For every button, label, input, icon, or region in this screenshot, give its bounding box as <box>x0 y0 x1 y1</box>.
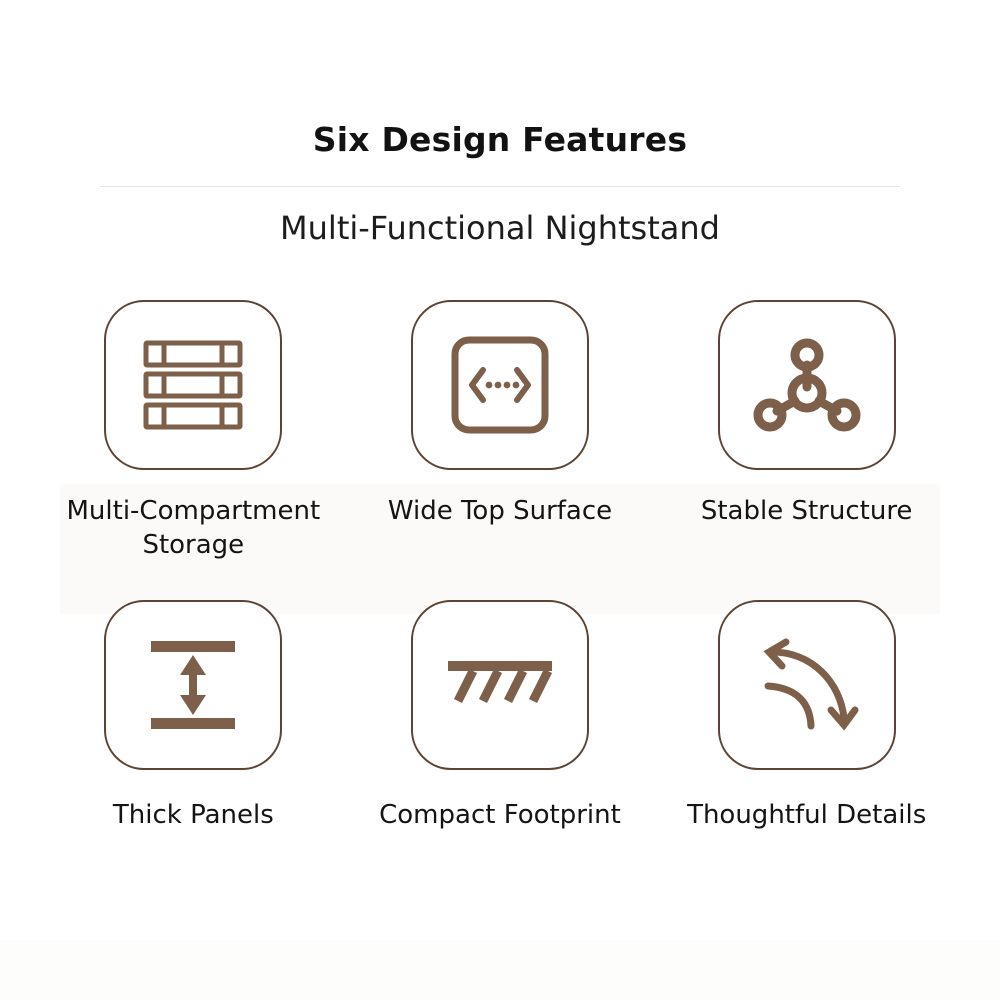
feature-item-multi-compartment-storage: Multi-Compartment Storage <box>40 300 347 600</box>
background-band-lower <box>0 940 1000 1000</box>
header: Six Design Features Multi-Functional Nig… <box>0 0 1000 247</box>
curved-arrows-icon <box>752 630 862 740</box>
hatched-base-icon <box>444 645 556 725</box>
feature-item-wide-top-surface: Wide Top Surface <box>347 300 654 600</box>
node-structure-icon <box>753 335 861 435</box>
page-subtitle: Multi-Functional Nightstand <box>0 209 1000 247</box>
feature-item-stable-structure: Stable Structure <box>653 300 960 600</box>
feature-label-4: Thick Panels <box>113 798 274 832</box>
feature-item-compact-footprint: Compact Footprint <box>347 600 654 900</box>
feature-item-thick-panels: Thick Panels <box>40 600 347 900</box>
feature-item-thoughtful-details: Thoughtful Details <box>653 600 960 900</box>
feature-label-6: Thoughtful Details <box>687 798 926 832</box>
features-grid: Multi-Compartment Storage <box>40 300 960 900</box>
icon-card-2 <box>411 300 589 470</box>
drawers-icon <box>138 335 248 435</box>
title-divider <box>100 186 900 187</box>
width-arrows-icon <box>448 333 552 437</box>
icon-card-5 <box>411 600 589 770</box>
feature-label-1: Multi-Compartment Storage <box>43 494 343 563</box>
feature-label-5: Compact Footprint <box>379 798 621 832</box>
page-title: Six Design Features <box>0 120 1000 160</box>
icon-card-4 <box>104 600 282 770</box>
feature-label-3: Stable Structure <box>701 494 913 528</box>
feature-infographic-page: Six Design Features Multi-Functional Nig… <box>0 0 1000 1000</box>
panel-thickness-icon <box>141 633 245 737</box>
icon-card-3 <box>718 300 896 470</box>
feature-label-2: Wide Top Surface <box>388 494 612 528</box>
icon-card-6 <box>718 600 896 770</box>
icon-card-1 <box>104 300 282 470</box>
